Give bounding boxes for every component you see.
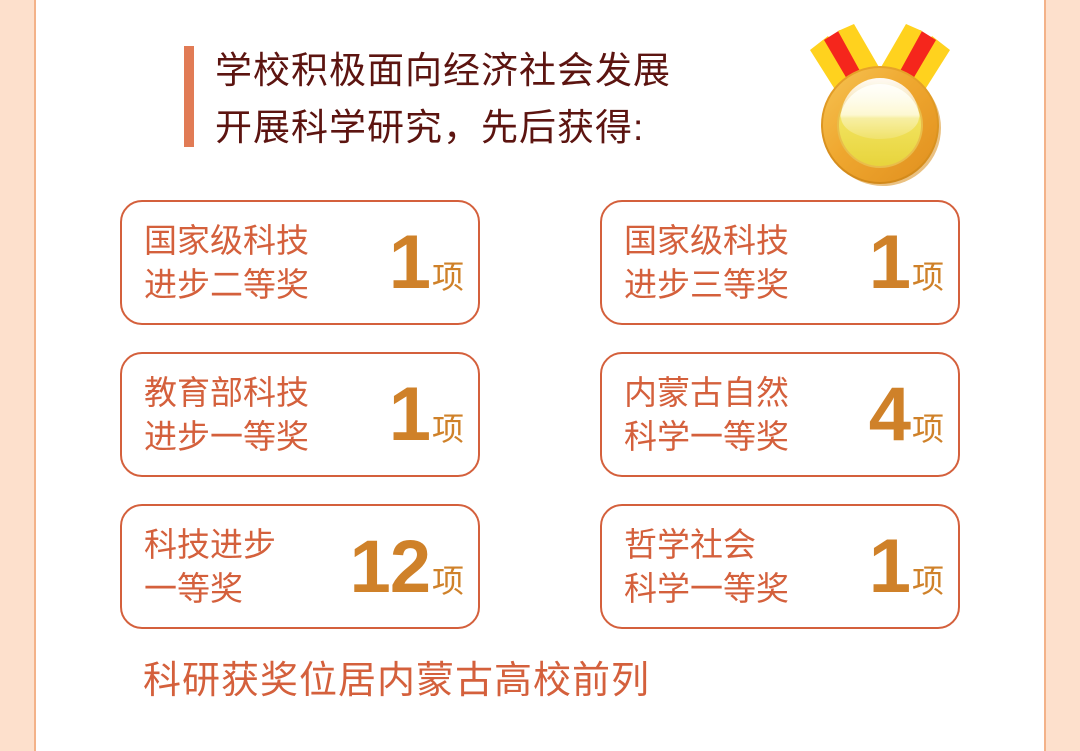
infographic-page: 学校积极面向经济社会发展 开展科学研究，先后获得: (0, 0, 1080, 751)
award-card-label-line-2: 进步三等奖 (624, 263, 789, 307)
award-card-unit: 项 (912, 413, 944, 445)
heading-block: 学校积极面向经济社会发展 开展科学研究，先后获得: (184, 42, 671, 156)
award-card-label-line-1: 内蒙古自然 (624, 371, 789, 415)
award-card-count: 1 项 (389, 377, 464, 453)
award-cards-grid: 国家级科技 进步二等奖 1 项 国家级科技 进步三等奖 1 项 (120, 200, 960, 629)
award-card-label: 国家级科技 进步二等奖 (144, 219, 309, 307)
award-card-label: 内蒙古自然 科学一等奖 (624, 371, 789, 459)
header-section: 学校积极面向经济社会发展 开展科学研究，先后获得: (120, 24, 960, 184)
award-card-unit: 项 (432, 565, 464, 597)
award-card-label-line-2: 科学一等奖 (624, 415, 789, 459)
award-card-label-line-2: 科学一等奖 (624, 567, 789, 611)
footer-caption: 科研获奖位居内蒙古高校前列 (143, 655, 650, 707)
award-card-unit: 项 (912, 565, 944, 597)
page-title-line-1: 学校积极面向经济社会发展 (215, 42, 671, 99)
award-card-unit: 项 (432, 261, 464, 293)
award-card-unit: 项 (912, 261, 944, 293)
award-card-label-line-1: 哲学社会 (624, 523, 789, 567)
award-card-number: 1 (389, 377, 430, 453)
award-card-label: 科技进步 一等奖 (144, 523, 276, 611)
award-card-label-line-2: 进步一等奖 (144, 415, 309, 459)
award-card-number: 1 (869, 529, 910, 605)
award-card[interactable]: 国家级科技 进步三等奖 1 项 (600, 200, 960, 325)
award-card-label-line-1: 国家级科技 (624, 219, 789, 263)
award-card-label: 哲学社会 科学一等奖 (624, 523, 789, 611)
page-content: 学校积极面向经济社会发展 开展科学研究，先后获得: (0, 0, 1080, 751)
award-card-count: 4 项 (869, 377, 944, 453)
award-card-label-line-1: 科技进步 (144, 523, 276, 567)
award-card-count: 12 项 (350, 529, 464, 605)
gold-medal-icon (800, 16, 960, 196)
award-card-label: 国家级科技 进步三等奖 (624, 219, 789, 307)
award-card[interactable]: 哲学社会 科学一等奖 1 项 (600, 504, 960, 629)
award-card[interactable]: 国家级科技 进步二等奖 1 项 (120, 200, 480, 325)
award-card-number: 4 (869, 377, 910, 453)
award-card-count: 1 项 (869, 529, 944, 605)
award-card-label-line-2: 进步二等奖 (144, 263, 309, 307)
page-title: 学校积极面向经济社会发展 开展科学研究，先后获得: (215, 42, 671, 156)
award-card[interactable]: 内蒙古自然 科学一等奖 4 项 (600, 352, 960, 477)
award-card-label-line-1: 国家级科技 (144, 219, 309, 263)
award-card[interactable]: 教育部科技 进步一等奖 1 项 (120, 352, 480, 477)
award-card-label-line-1: 教育部科技 (144, 371, 309, 415)
award-card-number: 1 (389, 225, 430, 301)
accent-bar-icon (184, 46, 194, 147)
award-card-label-line-2: 一等奖 (144, 567, 276, 611)
award-card-label: 教育部科技 进步一等奖 (144, 371, 309, 459)
award-card-count: 1 项 (869, 225, 944, 301)
award-card-number: 1 (869, 225, 910, 301)
award-card-count: 1 项 (389, 225, 464, 301)
page-title-line-2: 开展科学研究，先后获得: (215, 99, 671, 156)
award-card-unit: 项 (432, 413, 464, 445)
award-card-number: 12 (350, 529, 430, 605)
award-card[interactable]: 科技进步 一等奖 12 项 (120, 504, 480, 629)
